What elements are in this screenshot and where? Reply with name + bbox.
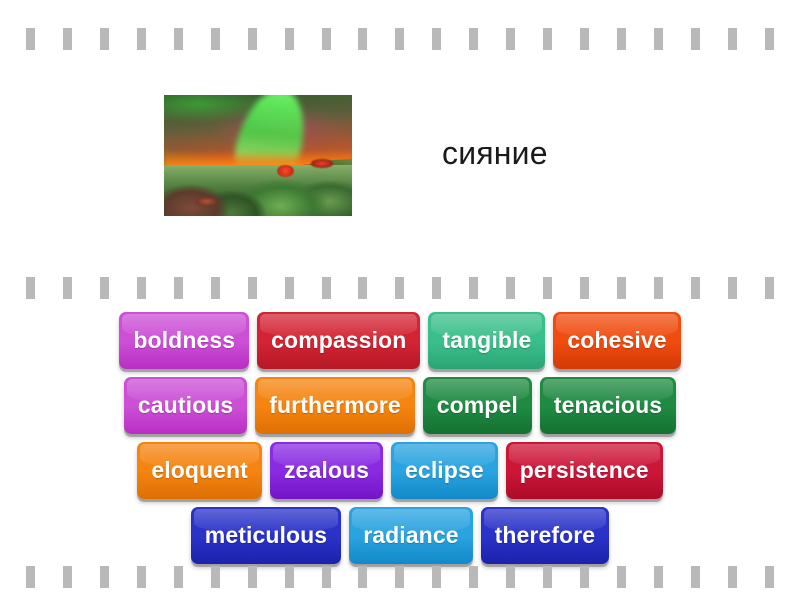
dash-mark bbox=[691, 277, 700, 299]
dash-mark bbox=[63, 566, 72, 588]
dash-mark bbox=[26, 566, 35, 588]
dash-mark bbox=[617, 566, 626, 588]
tile-row: boldnesscompassiontangiblecohesive bbox=[0, 312, 800, 369]
dash-mark bbox=[358, 566, 367, 588]
answer-tile[interactable]: cautious bbox=[124, 377, 247, 434]
dash-mark bbox=[765, 277, 774, 299]
dash-row-middle bbox=[0, 277, 800, 299]
answer-tile[interactable]: meticulous bbox=[191, 507, 341, 564]
dash-mark bbox=[137, 277, 146, 299]
dash-mark bbox=[322, 566, 331, 588]
dash-mark bbox=[654, 566, 663, 588]
answer-tile[interactable]: compassion bbox=[257, 312, 420, 369]
dash-mark bbox=[506, 28, 515, 50]
answer-tile[interactable]: zealous bbox=[270, 442, 383, 499]
answer-tile[interactable]: compel bbox=[423, 377, 532, 434]
dash-mark bbox=[543, 28, 552, 50]
answer-tile[interactable]: tenacious bbox=[540, 377, 676, 434]
dash-mark bbox=[617, 277, 626, 299]
red-rock-accent bbox=[277, 165, 294, 177]
dash-mark bbox=[358, 28, 367, 50]
dash-mark bbox=[285, 277, 294, 299]
rocks-layer bbox=[164, 165, 352, 216]
dash-mark bbox=[580, 277, 589, 299]
dash-mark bbox=[285, 28, 294, 50]
dash-mark bbox=[432, 277, 441, 299]
dash-mark bbox=[26, 28, 35, 50]
prompt-word: сияние bbox=[442, 135, 548, 172]
dash-mark bbox=[174, 28, 183, 50]
dash-mark bbox=[358, 277, 367, 299]
dash-mark bbox=[395, 277, 404, 299]
dash-mark bbox=[728, 566, 737, 588]
dash-mark bbox=[248, 566, 257, 588]
answer-tile[interactable]: tangible bbox=[428, 312, 545, 369]
aurora-illustration bbox=[164, 95, 352, 216]
dash-mark bbox=[63, 277, 72, 299]
answer-tile[interactable]: therefore bbox=[481, 507, 610, 564]
dash-mark bbox=[654, 28, 663, 50]
answer-tile[interactable]: cohesive bbox=[553, 312, 680, 369]
answer-tile[interactable]: eclipse bbox=[391, 442, 498, 499]
dash-mark bbox=[100, 566, 109, 588]
dash-mark bbox=[248, 28, 257, 50]
dash-mark bbox=[580, 28, 589, 50]
dash-mark bbox=[322, 277, 331, 299]
dash-mark bbox=[137, 28, 146, 50]
dash-mark bbox=[432, 566, 441, 588]
dash-mark bbox=[395, 566, 404, 588]
tile-row: meticulousradiancetherefore bbox=[0, 507, 800, 564]
answer-tile[interactable]: persistence bbox=[506, 442, 663, 499]
answer-tile[interactable]: boldness bbox=[119, 312, 249, 369]
dash-mark bbox=[469, 277, 478, 299]
red-rock-accent bbox=[196, 197, 217, 207]
dash-mark bbox=[285, 566, 294, 588]
prompt-area: сияние bbox=[0, 95, 800, 230]
dash-mark bbox=[137, 566, 146, 588]
answer-tiles: boldnesscompassiontangiblecohesivecautio… bbox=[0, 312, 800, 572]
tile-row: cautiousfurthermorecompeltenacious bbox=[0, 377, 800, 434]
dash-mark bbox=[211, 28, 220, 50]
dash-mark bbox=[174, 277, 183, 299]
dash-mark bbox=[100, 277, 109, 299]
dash-mark bbox=[765, 28, 774, 50]
dash-mark bbox=[211, 566, 220, 588]
answer-tile[interactable]: eloquent bbox=[137, 442, 262, 499]
tile-row: eloquentzealouseclipsepersistence bbox=[0, 442, 800, 499]
dash-row-top bbox=[0, 28, 800, 50]
dash-row-bottom bbox=[0, 566, 800, 588]
dash-mark bbox=[691, 28, 700, 50]
answer-tile[interactable]: furthermore bbox=[255, 377, 414, 434]
dash-mark bbox=[728, 28, 737, 50]
dash-mark bbox=[469, 28, 478, 50]
dash-mark bbox=[469, 566, 478, 588]
red-rock-accent bbox=[311, 159, 334, 167]
dash-mark bbox=[728, 277, 737, 299]
answer-tile[interactable]: radiance bbox=[349, 507, 472, 564]
dash-mark bbox=[322, 28, 331, 50]
dash-mark bbox=[63, 28, 72, 50]
dash-mark bbox=[765, 566, 774, 588]
dash-mark bbox=[174, 566, 183, 588]
dash-mark bbox=[100, 28, 109, 50]
dash-mark bbox=[248, 277, 257, 299]
dash-mark bbox=[26, 277, 35, 299]
dash-mark bbox=[432, 28, 441, 50]
dash-mark bbox=[543, 277, 552, 299]
dash-mark bbox=[211, 277, 220, 299]
dash-mark bbox=[395, 28, 404, 50]
dash-mark bbox=[617, 28, 626, 50]
dash-mark bbox=[580, 566, 589, 588]
dash-mark bbox=[506, 566, 515, 588]
dash-mark bbox=[506, 277, 515, 299]
prompt-image[interactable] bbox=[164, 95, 352, 216]
dash-mark bbox=[691, 566, 700, 588]
dash-mark bbox=[654, 277, 663, 299]
dash-mark bbox=[543, 566, 552, 588]
